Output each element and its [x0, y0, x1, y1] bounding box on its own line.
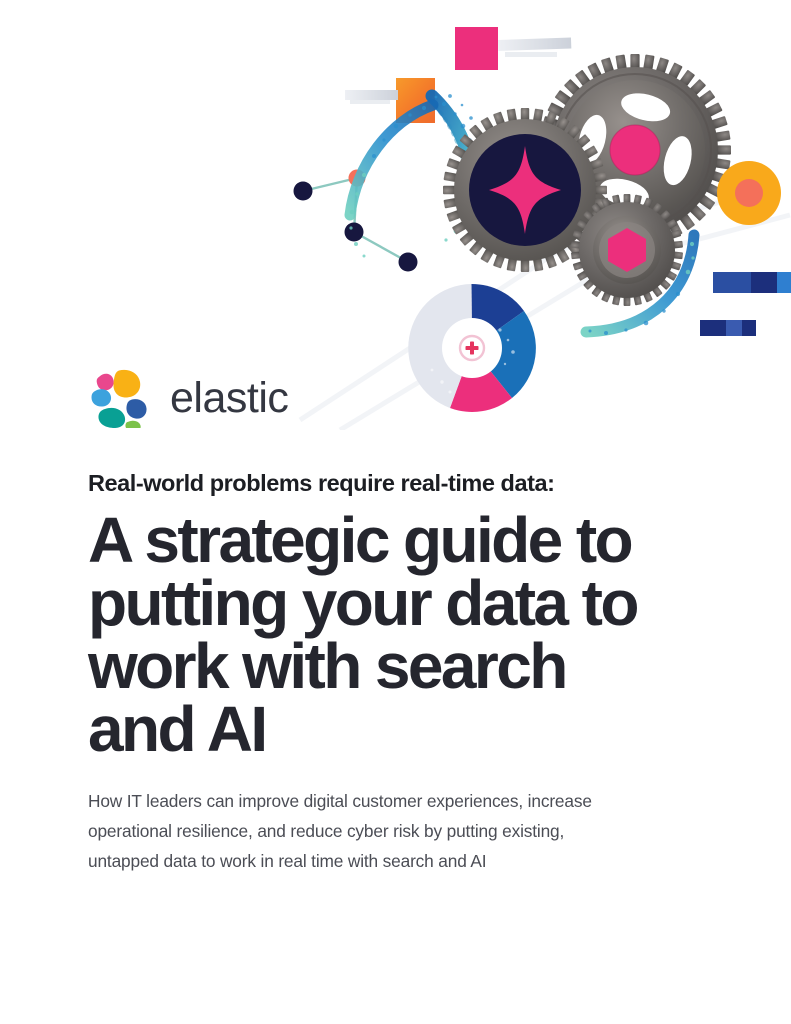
subtitle-text: How IT leaders can improve digital custo…	[88, 787, 600, 876]
elastic-logo-lockup[interactable]: elastic	[88, 366, 288, 428]
gray-bar-short	[345, 90, 398, 104]
network-node-navy-2	[345, 223, 364, 242]
elastic-logo-icon	[88, 366, 156, 428]
elastic-wordmark: elastic	[170, 377, 288, 420]
cover-text-block: Real-world problems require real-time da…	[88, 470, 668, 877]
blue-bar-chart-upper	[713, 272, 791, 293]
pink-square-chip	[455, 27, 498, 70]
cover-page: elastic Real-world problems require real…	[0, 0, 791, 1024]
orange-ring	[717, 161, 781, 225]
blue-bar-chart-lower	[700, 320, 756, 336]
gray-bar-long	[498, 37, 571, 57]
network-node-navy-3	[399, 253, 418, 272]
donut-chart	[408, 284, 536, 412]
gear-small-bottom	[571, 194, 683, 306]
eyebrow-text: Real-world problems require real-time da…	[88, 470, 668, 497]
network-node-navy-1	[294, 182, 313, 201]
page-title: A strategic guide to putting your data t…	[88, 509, 663, 761]
